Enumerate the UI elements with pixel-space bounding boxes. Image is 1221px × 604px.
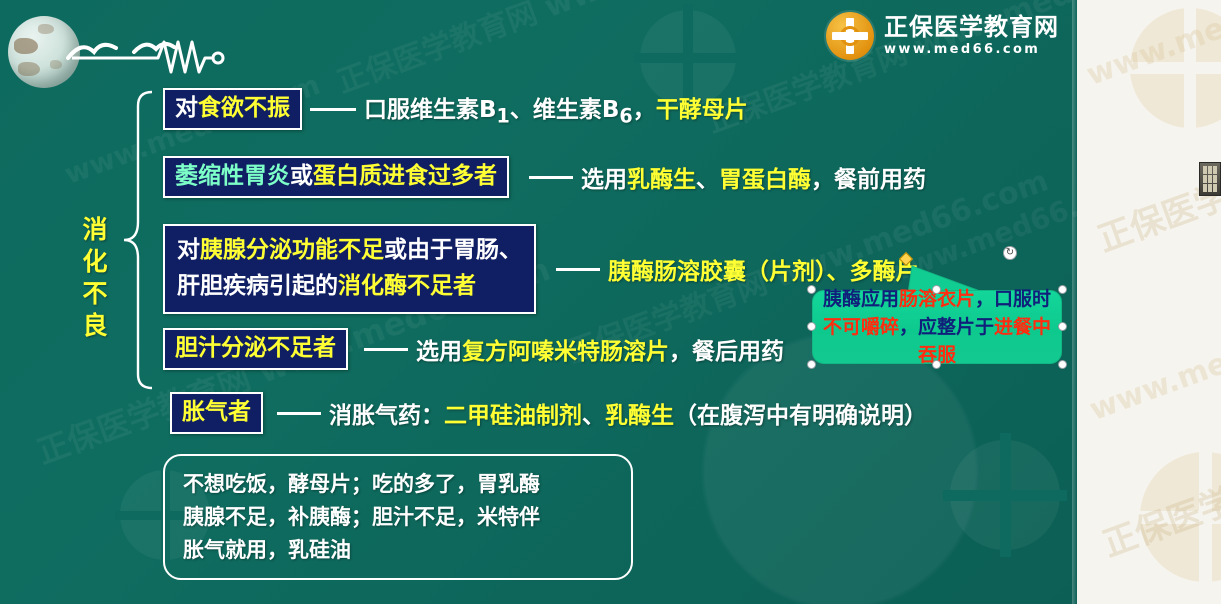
chip-seg: 对 — [175, 95, 198, 121]
desc-seg: ，餐后用药 — [669, 339, 784, 365]
row-pancreas-chip[interactable]: 对胰腺分泌功能不足或由于胃肠、 肝胆疾病引起的消化酶不足者 — [163, 224, 536, 314]
desc-seg-sub: 1 — [497, 105, 510, 128]
row-bile-chip[interactable]: 胆汁分泌不足者 — [163, 328, 348, 370]
left-label-char-cell: 消 — [80, 214, 110, 246]
row-flatulence-chip[interactable]: 胀气者 — [170, 392, 263, 434]
resize-handle-s[interactable] — [932, 360, 941, 369]
desc-seg: 乳酶生 — [627, 167, 696, 193]
row-bile-desc: 选用复方阿嗪米特肠溶片，餐后用药 — [416, 332, 784, 366]
desc-seg: 乳酶生 — [605, 403, 674, 429]
resize-handle-sw[interactable] — [807, 360, 816, 369]
logo-name: 正保医学教育网 — [884, 15, 1059, 40]
resize-handle-se[interactable] — [1058, 360, 1067, 369]
page-root: www.med66.com 正保医学教育网 www.med66.com www.… — [0, 0, 1221, 604]
left-label-char-cell: 化 — [80, 246, 110, 278]
desc-seg: 干酵母片 — [656, 97, 748, 123]
slide-right-edge — [1072, 0, 1077, 604]
mnemonic-line: 胀气就用，乳硅油 — [183, 534, 613, 567]
row-atrophic-gastritis-chip[interactable]: 萎缩性胃炎或蛋白质进食过多者 — [163, 156, 509, 198]
chip-seg: 胀气者 — [182, 399, 251, 425]
desc-seg: ，餐前用药 — [811, 167, 926, 193]
logo-url: www.med66.com — [884, 43, 1059, 57]
page-title: 消化不良 — [80, 214, 110, 342]
callout-seg: ，应整片于 — [899, 316, 994, 338]
grid-widget-icon[interactable] — [1199, 162, 1221, 196]
callout-text: 胰酶应用肠溶衣片，口服时不可嚼碎，应整片于进餐中吞服 — [812, 290, 1062, 364]
connector-dash — [277, 412, 321, 415]
row-bile: 胆汁分泌不足者 选用复方阿嗪米特肠溶片，餐后用药 — [163, 328, 784, 370]
callout-seg: ，口服时 — [975, 288, 1051, 310]
slide-canvas: 正保医学教育网 www.med66.com 正保医学教育网 www.med66.… — [0, 0, 1077, 604]
left-label-char-cell: 良 — [80, 310, 110, 342]
site-logo: 正保医学教育网 www.med66.com — [826, 12, 1059, 60]
callout-seg: 不可嚼碎 — [823, 316, 899, 338]
row-atrophic-gastritis-desc: 选用乳酶生、胃蛋白酶，餐前用药 — [581, 160, 926, 194]
chip-seg: 胰腺分泌功能不足 — [200, 237, 384, 263]
resize-handle-n[interactable] — [932, 285, 941, 294]
desc-seg: 消胀气药： — [329, 403, 444, 429]
cream-watermark-ring — [1130, 8, 1221, 128]
left-label-char: 消化不良 — [80, 214, 110, 342]
desc-seg: ， — [633, 97, 656, 123]
row-appetite-desc: 口服维生素B1、维生素B6，干酵母片 — [364, 90, 748, 128]
rotate-handle-icon[interactable]: ↻ — [1003, 246, 1017, 260]
row-appetite-chip[interactable]: 对食欲不振 — [163, 88, 302, 130]
chip-seg: 肝胆疾病引起的 — [177, 273, 338, 299]
desc-seg: 胃蛋白酶 — [719, 167, 811, 193]
slide-watermark-ring — [950, 440, 1060, 550]
connector-dash — [310, 108, 356, 111]
connector-dash — [364, 348, 408, 351]
chip-seg: 胆汁分泌不足者 — [175, 335, 336, 361]
row-flatulence: 胀气者 消胀气药：二甲硅油制剂、乳酶生（在腹泻中有明确说明） — [170, 392, 927, 434]
chip-seg: 食欲不振 — [198, 95, 290, 121]
chip-seg: 萎缩性胃炎 — [175, 163, 290, 189]
row-flatulence-desc: 消胀气药：二甲硅油制剂、乳酶生（在腹泻中有明确说明） — [329, 396, 927, 430]
chip-seg: 蛋白质进食过多者 — [313, 163, 497, 189]
desc-seg: 选用 — [581, 167, 627, 193]
callout-seg: 胰酶应用 — [823, 288, 899, 310]
chip-seg: 对 — [177, 237, 200, 263]
row-pancreas: 对胰腺分泌功能不足或由于胃肠、 肝胆疾病引起的消化酶不足者 胰酶肠溶胶囊（片剂）… — [163, 224, 919, 314]
row-appetite: 对食欲不振 口服维生素B1、维生素B6，干酵母片 — [163, 88, 748, 130]
desc-seg: 复方阿嗪米特肠溶片 — [462, 339, 669, 365]
connector-dash — [529, 176, 573, 179]
ecg-line-icon — [72, 36, 232, 76]
resize-handle-e[interactable] — [1058, 322, 1067, 331]
resize-handle-ne[interactable] — [1058, 285, 1067, 294]
cross-circle-logo-icon — [826, 12, 874, 60]
desc-seg: 、 — [582, 403, 605, 429]
resize-handle-nw[interactable] — [807, 285, 816, 294]
cream-watermark-text: 正保医学教育网 www.med66.com — [1095, 323, 1221, 566]
mnemonic-line: 不想吃饭，酵母片；吃的多了，胃乳酶 — [183, 468, 613, 501]
cream-watermark-text: www.med66.com — [1085, 296, 1221, 428]
curly-brace-icon — [122, 88, 156, 428]
row-atrophic-gastritis: 萎缩性胃炎或蛋白质进食过多者 选用乳酶生、胃蛋白酶，餐前用药 — [163, 156, 926, 198]
desc-seg: 、维生素B — [510, 97, 620, 123]
desc-seg: 二甲硅油制剂 — [444, 403, 582, 429]
desc-seg: （在腹泻中有明确说明） — [674, 403, 927, 429]
resize-handle-w[interactable] — [807, 322, 816, 331]
chip-seg: 或 — [290, 163, 313, 189]
cream-watermark-ring — [1140, 452, 1221, 582]
mnemonic-box: 不想吃饭，酵母片；吃的多了，胃乳酶 胰腺不足，补胰酶；胆汁不足，米特伴 胀气就用… — [163, 454, 633, 580]
desc-seg: 口服维生素B — [364, 97, 497, 123]
cream-watermark-text: 正保医学教育网 www.med66.com — [1090, 18, 1221, 261]
callout-shape[interactable]: 胰酶应用肠溶衣片，口服时不可嚼碎，应整片于进餐中吞服 ↻ — [812, 290, 1062, 364]
chip-seg: 消化酶不足者 — [338, 273, 476, 299]
left-label-char-cell: 不 — [80, 278, 110, 310]
slide-watermark-text: 正保医学教育网 www.med66.com — [330, 0, 823, 101]
cream-watermark-text: www.med66.com — [1082, 0, 1221, 93]
desc-seg: 、 — [696, 167, 719, 193]
connector-dash — [556, 268, 600, 271]
desc-seg: 选用 — [416, 339, 462, 365]
chip-seg: 或由于胃肠、 — [384, 237, 522, 263]
mnemonic-line: 胰腺不足，补胰酶；胆汁不足，米特伴 — [183, 501, 613, 534]
desc-seg-sub: 6 — [619, 105, 632, 128]
